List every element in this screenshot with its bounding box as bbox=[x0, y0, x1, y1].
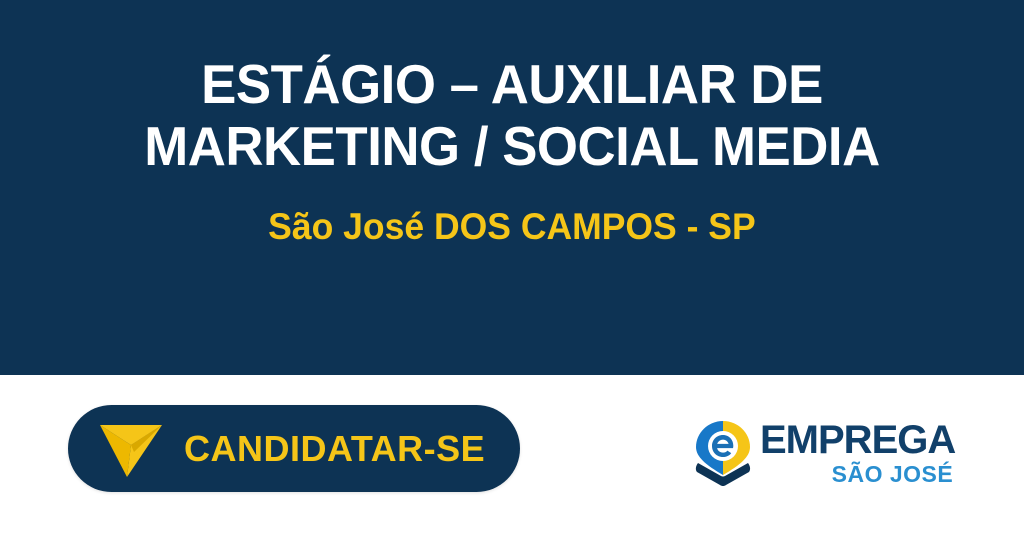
send-paper-plane-icon bbox=[98, 419, 164, 479]
apply-button-label: CANDIDATAR-SE bbox=[184, 428, 485, 470]
job-location: São José DOS CAMPOS - SP bbox=[268, 207, 756, 248]
job-posting-card: ESTÁGIO – AUXILIAR DE MARKETING / SOCIAL… bbox=[0, 0, 1024, 538]
brand-wordmark: EMPREGA SÃO JOSÉ bbox=[760, 420, 955, 486]
brand-name-secondary: SÃO JOSÉ bbox=[832, 463, 954, 486]
map-pin-e-icon bbox=[692, 419, 754, 487]
hero-section: ESTÁGIO – AUXILIAR DE MARKETING / SOCIAL… bbox=[0, 0, 1024, 375]
brand-name-primary: EMPREGA bbox=[760, 420, 955, 460]
page-title: ESTÁGIO – AUXILIAR DE MARKETING / SOCIAL… bbox=[80, 54, 944, 177]
brand-logo: EMPREGA SÃO JOSÉ bbox=[692, 415, 932, 491]
apply-button[interactable]: CANDIDATAR-SE bbox=[68, 405, 520, 492]
